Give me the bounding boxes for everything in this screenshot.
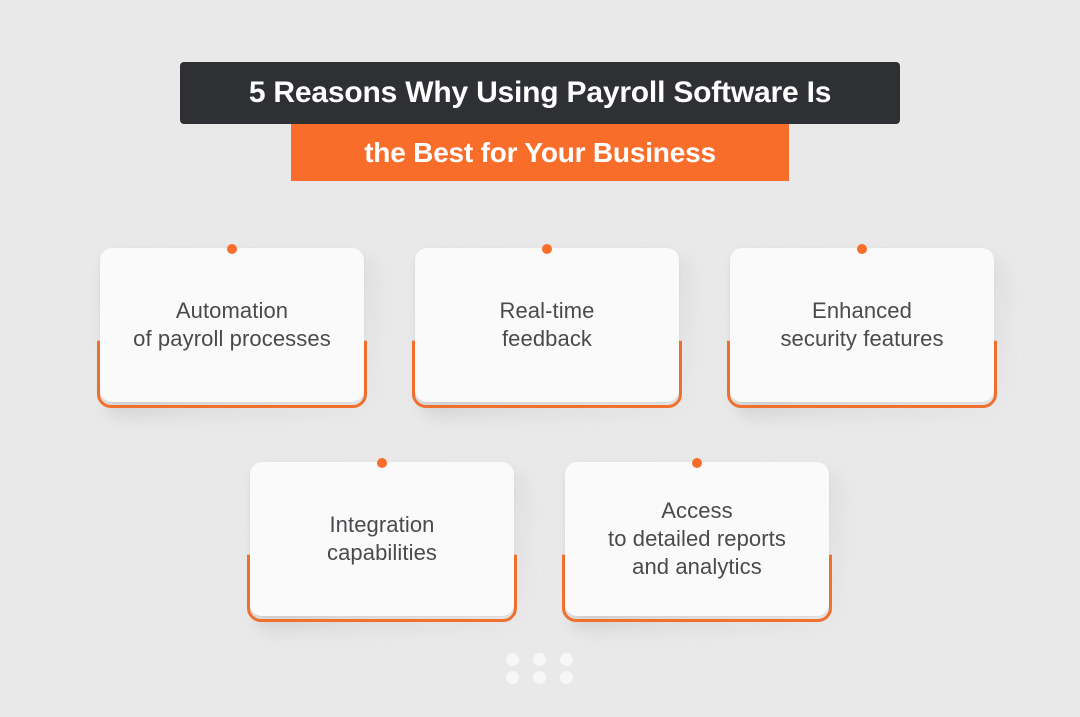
decorative-dot-grid	[506, 653, 578, 687]
title-line-1: 5 Reasons Why Using Payroll Software Is	[180, 62, 900, 124]
card-label: Access to detailed reports and analytics	[602, 497, 792, 580]
infographic-canvas: 5 Reasons Why Using Payroll Software Is …	[0, 0, 1080, 717]
card-dot-icon	[692, 458, 702, 468]
card-label: Real-time feedback	[493, 297, 600, 352]
card-label: Integration capabilities	[321, 511, 443, 566]
decorative-dot	[560, 671, 573, 684]
decorative-dot	[560, 653, 573, 666]
reason-card[interactable]: Real-time feedback	[412, 248, 682, 408]
card-face: Access to detailed reports and analytics	[565, 462, 829, 616]
title-line-2: the Best for Your Business	[291, 124, 789, 181]
card-face: Real-time feedback	[415, 248, 679, 402]
decorative-dot	[533, 671, 546, 684]
card-face: Automation of payroll processes	[100, 248, 364, 402]
card-label: Automation of payroll processes	[127, 297, 337, 352]
card-dot-icon	[542, 244, 552, 254]
card-face: Enhanced security features	[730, 248, 994, 402]
card-label: Enhanced security features	[774, 297, 949, 352]
decorative-dot	[533, 653, 546, 666]
reason-card[interactable]: Automation of payroll processes	[97, 248, 367, 408]
card-dot-icon	[377, 458, 387, 468]
decorative-dot	[506, 653, 519, 666]
card-dot-icon	[857, 244, 867, 254]
reason-card[interactable]: Access to detailed reports and analytics	[562, 462, 832, 622]
reason-card[interactable]: Enhanced security features	[727, 248, 997, 408]
card-dot-icon	[227, 244, 237, 254]
card-face: Integration capabilities	[250, 462, 514, 616]
reason-card[interactable]: Integration capabilities	[247, 462, 517, 622]
decorative-dot	[506, 671, 519, 684]
